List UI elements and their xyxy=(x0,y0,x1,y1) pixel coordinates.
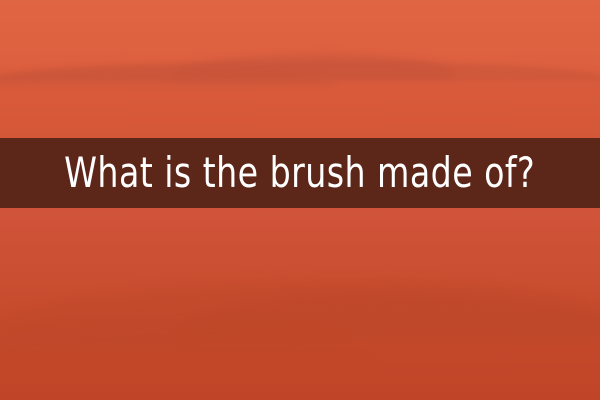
screenshot-canvas: What is the brush made of? xyxy=(0,0,600,400)
caption-question-text: What is the brush made of? xyxy=(64,152,535,194)
caption-banner: What is the brush made of? xyxy=(0,138,600,208)
